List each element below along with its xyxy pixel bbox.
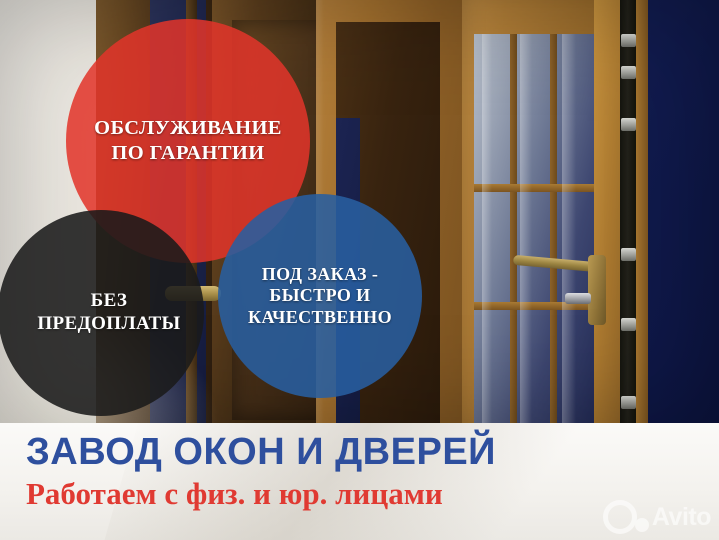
avito-dot-icon	[635, 518, 649, 532]
badge-made-to-order-line-1: ПОД ЗАКАЗ -	[248, 264, 392, 286]
sash-edge	[636, 0, 648, 430]
hardware-groove	[620, 0, 637, 430]
banner-headline: ЗАВОД ОКОН И ДВЕРЕЙ	[26, 433, 546, 472]
badge-warranty-line-1: ОБСЛУЖИВАНИЕ	[94, 116, 282, 141]
badge-no-prepayment-line-2: ПРЕДОПЛАТЫ	[37, 313, 180, 336]
badge-no-prepayment: БЕЗ ПРЕДОПЛАТЫ	[0, 210, 204, 416]
window-handle-rose	[588, 255, 606, 325]
banner-text-block: ЗАВОД ОКОН И ДВЕРЕЙ Работаем с физ. и юр…	[26, 433, 546, 510]
avito-ring-icon	[603, 500, 637, 534]
window-glazing	[474, 34, 594, 430]
badge-made-to-order-line-3: КАЧЕСТВЕННО	[248, 307, 392, 329]
avito-watermark: Avito	[603, 500, 711, 534]
advertisement-banner: ОБСЛУЖИВАНИЕ ПО ГАРАНТИИ БЕЗ ПРЕДОПЛАТЫ …	[0, 0, 719, 540]
banner-subline: Работаем с физ. и юр. лицами	[26, 478, 546, 511]
badge-made-to-order-line-2: БЫСТРО И	[248, 285, 392, 307]
badge-made-to-order: ПОД ЗАКАЗ - БЫСТРО И КАЧЕСТВЕННО	[218, 194, 422, 398]
bottom-banner: ЗАВОД ОКОН И ДВЕРЕЙ Работаем с физ. и юр…	[0, 423, 719, 540]
avito-watermark-text: Avito	[652, 503, 711, 532]
window-lock-cylinder	[565, 293, 591, 304]
badge-no-prepayment-line-1: БЕЗ	[37, 290, 180, 313]
badge-warranty-line-2: ПО ГАРАНТИИ	[94, 141, 282, 166]
